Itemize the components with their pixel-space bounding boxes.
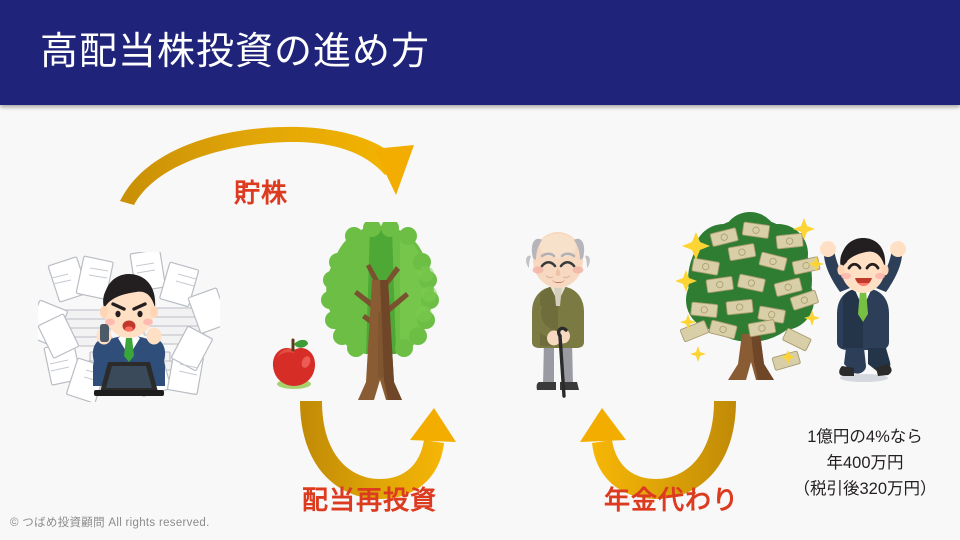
green-tree-icon [316, 222, 444, 407]
label-dividend-reinvestment: 配当再投資 [302, 480, 437, 517]
yield-note-line-2: 年400万円 [780, 450, 950, 476]
slide-canvas: 高配当株投資の進め方 [0, 0, 960, 540]
yield-note-block: 1億円の4%なら 年400万円 （税引後320万円） [780, 424, 950, 502]
label-pension-substitute: 年金代わり [604, 480, 739, 517]
footer-copyright: © つばめ投資顧問 All rights reserved. [10, 514, 210, 530]
yield-note-line-1: 1億円の4%なら [780, 424, 950, 450]
page-title: 高配当株投資の進め方 [40, 0, 430, 105]
jumping-businessman-icon [806, 230, 916, 385]
slide-header-bar: 高配当株投資の進め方 [0, 0, 960, 105]
busy-businessman-papers-icon [38, 252, 220, 402]
red-apple-icon [266, 336, 322, 390]
label-chokabu: 貯株 [234, 173, 288, 210]
elderly-man-cane-icon [510, 228, 606, 398]
yield-note-line-3: （税引後320万円） [780, 476, 950, 502]
